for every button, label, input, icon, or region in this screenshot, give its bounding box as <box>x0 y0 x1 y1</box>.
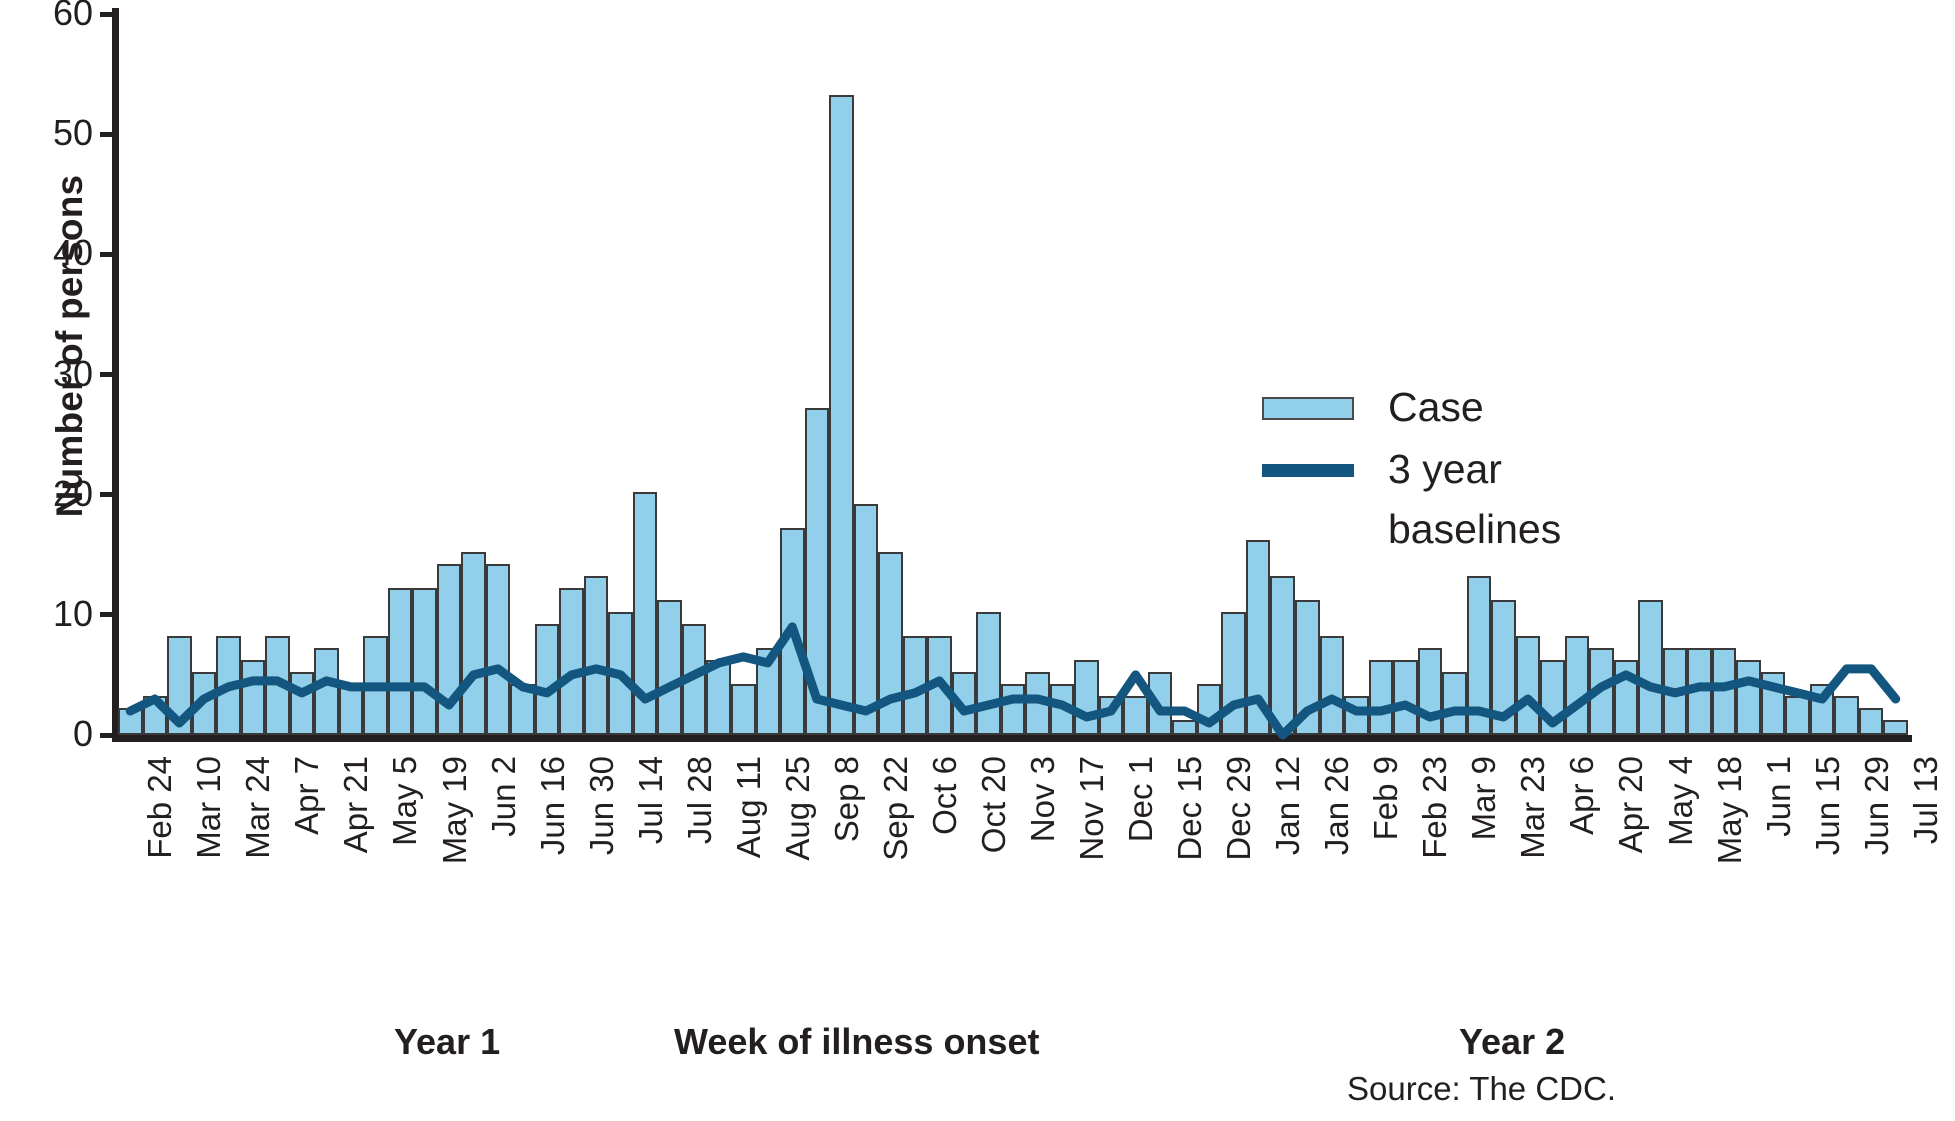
bar-52[interactable] <box>1393 660 1418 735</box>
bar-42[interactable] <box>1148 672 1173 735</box>
bar-3[interactable] <box>192 672 217 735</box>
bar-22[interactable] <box>657 600 682 735</box>
bar-57[interactable] <box>1516 636 1541 735</box>
bar-0[interactable] <box>118 708 143 735</box>
bar-32[interactable] <box>903 636 928 735</box>
legend-label-baseline: 3 year baselines <box>1388 439 1561 559</box>
bar-12[interactable] <box>412 588 437 735</box>
bar-2[interactable] <box>167 636 192 735</box>
y-tick-30 <box>100 372 118 377</box>
bar-56[interactable] <box>1491 600 1516 735</box>
bar-59[interactable] <box>1565 636 1590 735</box>
x-tick-label-25: Feb 9 <box>1369 756 1402 840</box>
x-tick-label-30: Apr 20 <box>1614 756 1647 853</box>
bar-1[interactable] <box>143 696 168 735</box>
bar-38[interactable] <box>1050 684 1075 735</box>
y-tick-label-30: 30 <box>0 356 93 392</box>
legend-swatch-bar-icon <box>1262 397 1354 420</box>
x-tick-label-24: Jan 26 <box>1320 756 1353 855</box>
bar-10[interactable] <box>363 636 388 735</box>
x-tick-label-4: Apr 21 <box>339 756 372 853</box>
bar-23[interactable] <box>682 624 707 735</box>
x-tick-label-8: Jun 16 <box>536 756 569 855</box>
bar-13[interactable] <box>437 564 462 735</box>
bar-61[interactable] <box>1614 660 1639 735</box>
bar-44[interactable] <box>1197 684 1222 735</box>
x-tick-label-22: Dec 29 <box>1222 756 1255 861</box>
bar-29[interactable] <box>829 95 854 735</box>
bar-72[interactable] <box>1883 720 1908 735</box>
bar-18[interactable] <box>559 588 584 735</box>
x-tick-label-15: Sep 22 <box>879 756 912 861</box>
x-axis-title: Week of illness onset <box>674 1021 1039 1063</box>
bar-21[interactable] <box>633 492 658 735</box>
x-tick-label-7: Jun 2 <box>487 756 520 837</box>
bar-58[interactable] <box>1540 660 1565 735</box>
bar-50[interactable] <box>1344 696 1369 735</box>
x-tick-label-32: May 18 <box>1713 756 1746 864</box>
bar-31[interactable] <box>878 552 903 735</box>
bar-15[interactable] <box>486 564 511 735</box>
bar-68[interactable] <box>1785 696 1810 735</box>
x-tick-label-19: Nov 17 <box>1075 756 1108 861</box>
bar-53[interactable] <box>1418 648 1443 735</box>
bar-51[interactable] <box>1369 660 1394 735</box>
bar-24[interactable] <box>706 660 731 735</box>
bar-60[interactable] <box>1589 648 1614 735</box>
bar-33[interactable] <box>927 636 952 735</box>
bar-64[interactable] <box>1687 648 1712 735</box>
x-tick-label-3: Apr 7 <box>290 756 323 835</box>
bar-9[interactable] <box>339 684 364 735</box>
plot-area <box>118 12 1908 735</box>
bar-19[interactable] <box>584 576 609 735</box>
x-tick-label-11: Jul 28 <box>683 756 716 844</box>
bar-39[interactable] <box>1074 660 1099 735</box>
x-tick-label-6: May 19 <box>438 756 471 864</box>
x-tick-label-28: Mar 23 <box>1516 756 1549 859</box>
bar-66[interactable] <box>1736 660 1761 735</box>
x-tick-label-1: Mar 10 <box>192 756 225 859</box>
bar-49[interactable] <box>1320 636 1345 735</box>
x-tick-label-26: Feb 23 <box>1418 756 1451 859</box>
bar-34[interactable] <box>952 672 977 735</box>
bar-69[interactable] <box>1810 684 1835 735</box>
bar-40[interactable] <box>1099 696 1124 735</box>
bar-4[interactable] <box>216 636 241 735</box>
x-tick-label-0: Feb 24 <box>143 756 176 859</box>
bar-7[interactable] <box>290 672 315 735</box>
x-tick-label-10: Jul 14 <box>634 756 667 844</box>
x-tick-label-33: Jun 1 <box>1762 756 1795 837</box>
y-tick-label-20: 20 <box>0 476 93 512</box>
x-tick-label-35: Jun 29 <box>1860 756 1893 855</box>
y-tick-label-40: 40 <box>0 235 93 271</box>
x-tick-label-17: Oct 20 <box>977 756 1010 853</box>
bar-55[interactable] <box>1467 576 1492 735</box>
x-tick-label-36: Jul 13 <box>1909 756 1942 844</box>
x-tick-label-34: Jun 15 <box>1811 756 1844 855</box>
legend-label-case: Case <box>1388 377 1484 437</box>
bar-46[interactable] <box>1246 540 1271 735</box>
bar-5[interactable] <box>241 660 266 735</box>
bar-48[interactable] <box>1295 600 1320 735</box>
y-tick-60 <box>100 12 118 17</box>
y-axis-title: Number of persons <box>49 86 91 606</box>
y-tick-50 <box>100 132 118 137</box>
y-tick-label-60: 60 <box>0 0 93 31</box>
y-tick-label-10: 10 <box>0 596 93 632</box>
bar-28[interactable] <box>805 408 830 735</box>
bar-11[interactable] <box>388 588 413 735</box>
bar-70[interactable] <box>1834 696 1859 735</box>
bar-35[interactable] <box>976 612 1001 735</box>
bar-20[interactable] <box>608 612 633 735</box>
x-tick-label-16: Oct 6 <box>928 756 961 835</box>
bar-45[interactable] <box>1221 612 1246 735</box>
bar-17[interactable] <box>535 624 560 735</box>
bar-41[interactable] <box>1123 696 1148 735</box>
y-tick-label-50: 50 <box>0 115 93 151</box>
y-tick-20 <box>100 492 118 497</box>
bar-63[interactable] <box>1663 648 1688 735</box>
chart-root: Number of persons 0102030405060 Feb 24Ma… <box>0 0 1955 1121</box>
y-tick-label-0: 0 <box>0 716 93 752</box>
bar-43[interactable] <box>1172 720 1197 735</box>
x-tick-label-27: Mar 9 <box>1467 756 1500 840</box>
bar-65[interactable] <box>1712 648 1737 735</box>
y-tick-40 <box>100 252 118 257</box>
x-tick-label-20: Dec 1 <box>1124 756 1157 842</box>
bar-47[interactable] <box>1270 576 1295 735</box>
bar-71[interactable] <box>1859 708 1884 735</box>
bar-6[interactable] <box>265 636 290 735</box>
x-tick-label-21: Dec 15 <box>1173 756 1206 861</box>
x-tick-label-29: Apr 6 <box>1565 756 1598 835</box>
x-tick-label-14: Sep 8 <box>830 756 863 842</box>
bar-62[interactable] <box>1638 600 1663 735</box>
x-tick-label-18: Nov 3 <box>1026 756 1059 842</box>
x-tick-label-9: Jun 30 <box>585 756 618 855</box>
bar-16[interactable] <box>510 684 535 735</box>
bar-37[interactable] <box>1025 672 1050 735</box>
annotation-year-1: Year 1 <box>394 1021 500 1063</box>
bar-36[interactable] <box>1001 684 1026 735</box>
y-tick-10 <box>100 612 118 617</box>
x-tick-label-5: May 5 <box>388 756 421 846</box>
x-tick-label-2: Mar 24 <box>241 756 274 859</box>
x-tick-label-23: Jan 12 <box>1271 756 1304 855</box>
x-tick-label-12: Aug 11 <box>732 756 765 858</box>
source-note: Source: The CDC. <box>1347 1070 1616 1108</box>
annotation-year-2: Year 2 <box>1459 1021 1565 1063</box>
bar-67[interactable] <box>1761 672 1786 735</box>
bar-54[interactable] <box>1442 672 1467 735</box>
x-axis-line <box>112 735 1912 742</box>
bar-30[interactable] <box>854 504 879 735</box>
bar-25[interactable] <box>731 684 756 735</box>
x-tick-label-31: May 4 <box>1664 756 1697 846</box>
bar-8[interactable] <box>314 648 339 735</box>
bar-27[interactable] <box>780 528 805 735</box>
bar-14[interactable] <box>461 552 486 735</box>
y-tick-0 <box>100 733 118 738</box>
legend-swatch-line-icon <box>1262 464 1354 477</box>
bar-26[interactable] <box>756 648 781 735</box>
x-tick-label-13: Aug 25 <box>781 756 814 861</box>
